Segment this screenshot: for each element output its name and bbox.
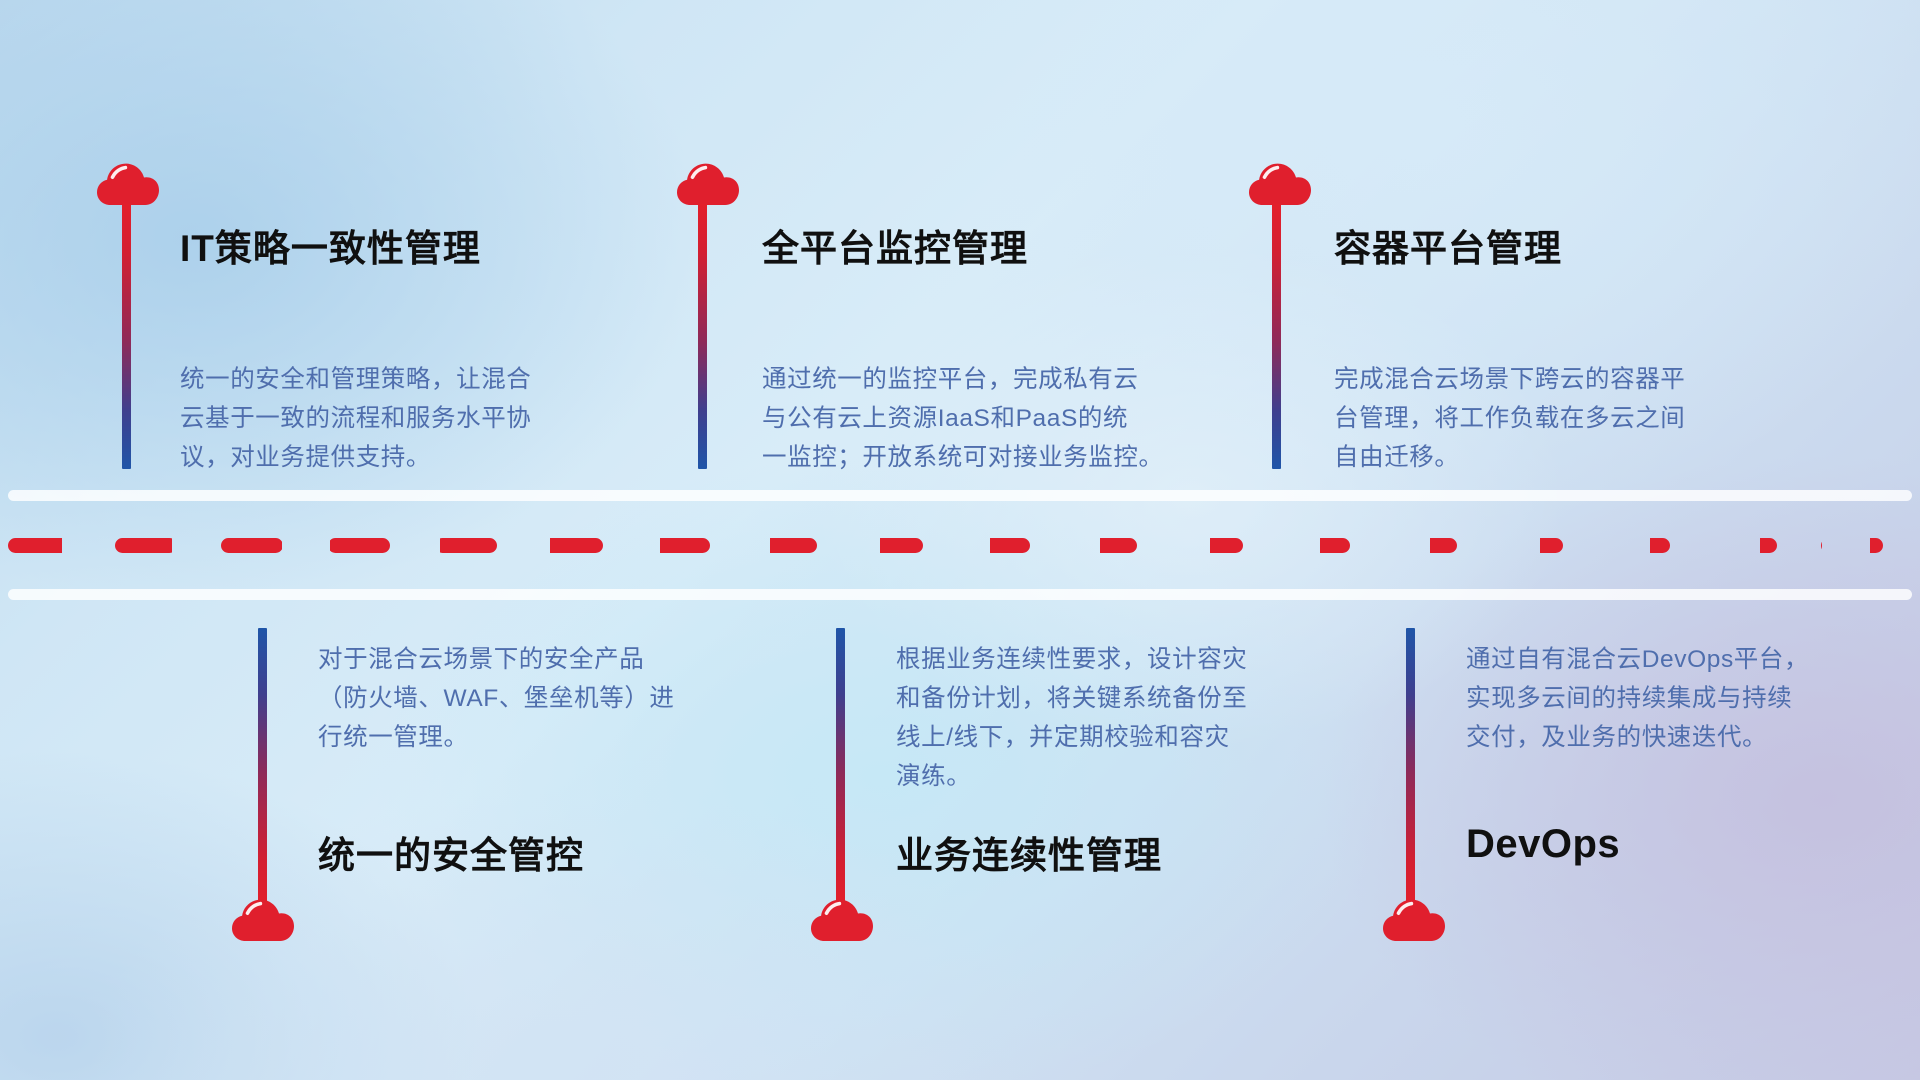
top-item-3-body: 完成混合云场景下跨云的容器平 台管理，将工作负载在多云之间 自由迁移。 xyxy=(1334,360,1764,477)
stem-bar xyxy=(836,628,845,906)
bottom-item-3-body: 通过自有混合云DevOps平台， 实现多云间的持续集成与持续 交付，及业务的快速… xyxy=(1466,640,1886,757)
cloud-icon xyxy=(810,896,874,944)
road-dash xyxy=(1181,538,1243,553)
road-line-bottom xyxy=(8,589,1912,600)
cloud-icon xyxy=(231,896,295,944)
cloud-icon xyxy=(1382,896,1446,944)
bottom-item-2-body: 根据业务连续性要求，设计容灾 和备份计划，将关键系统备份至 线上/线下，并定期校… xyxy=(896,640,1326,796)
road-dash xyxy=(1288,538,1350,553)
road-dash xyxy=(115,538,177,553)
road-dash-strip xyxy=(0,538,1920,553)
road-dash xyxy=(755,538,817,553)
road-dash xyxy=(541,538,603,553)
stem-bar xyxy=(1272,204,1281,469)
top-item-2-body: 通过统一的监控平台，完成私有云 与公有云上资源IaaS和PaaS的统 一监控；开… xyxy=(762,360,1202,477)
road-line-top xyxy=(8,490,1912,501)
cloud-icon xyxy=(1248,160,1312,208)
road-dash xyxy=(1821,538,1883,553)
road-dash xyxy=(1715,538,1777,553)
road-dash xyxy=(1395,538,1457,553)
stem-bar xyxy=(1406,628,1415,906)
stem-bar xyxy=(258,628,267,906)
road-dash xyxy=(435,538,497,553)
road-divider xyxy=(0,490,1920,600)
road-dash xyxy=(861,538,923,553)
top-item-1-body: 统一的安全和管理策略，让混合 云基于一致的流程和服务水平协 议，对业务提供支持。 xyxy=(180,360,600,477)
stem-bar xyxy=(698,204,707,469)
road-dash xyxy=(1075,538,1137,553)
bottom-item-1-title: 统一的安全管控 xyxy=(318,825,584,879)
top-item-1-title: IT策略一致性管理 xyxy=(180,218,481,272)
road-dash xyxy=(328,538,390,553)
bottom-item-2-title: 业务连续性管理 xyxy=(896,825,1162,879)
cloud-icon xyxy=(96,160,160,208)
road-dash xyxy=(648,538,710,553)
top-item-2-title: 全平台监控管理 xyxy=(762,218,1028,272)
road-dash xyxy=(968,538,1030,553)
road-dash xyxy=(1608,538,1670,553)
top-item-3-title: 容器平台管理 xyxy=(1334,218,1562,272)
stem-bar xyxy=(122,204,131,469)
bottom-item-3-title: DevOps xyxy=(1466,822,1620,867)
cloud-icon xyxy=(676,160,740,208)
road-dash xyxy=(221,538,283,553)
road-dash xyxy=(1501,538,1563,553)
bottom-item-1-body: 对于混合云场景下的安全产品 （防火墙、WAF、堡垒机等）进 行统一管理。 xyxy=(318,640,748,757)
road-dash xyxy=(8,538,70,553)
